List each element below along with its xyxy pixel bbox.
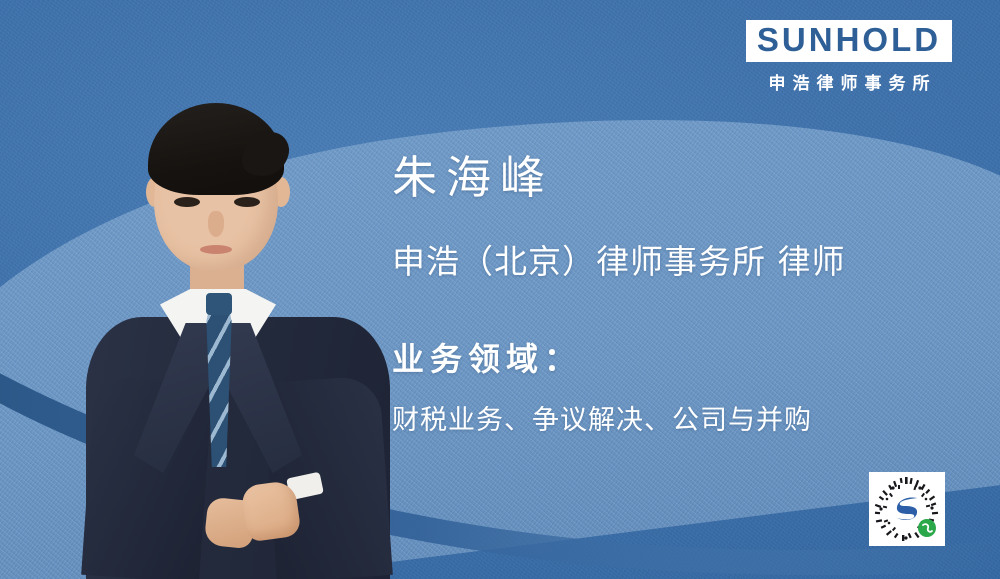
portrait-eye-left — [174, 197, 200, 207]
logo-wordmark-box: SUNHOLD — [746, 20, 952, 62]
miniprogram-badge-icon — [918, 519, 936, 537]
portrait-mouth — [200, 245, 232, 254]
practice-areas-value: 财税业务、争议解决、公司与并购 — [392, 403, 812, 439]
logo-chinese-name: 申浩律师事务所 — [746, 69, 952, 94]
practice-areas-label: 业务领域： — [392, 338, 582, 380]
portrait-necktie-knot — [206, 293, 232, 315]
brand-logo: SUNHOLD 申浩律师事务所 — [746, 20, 952, 94]
profile-card: SUNHOLD 申浩律师事务所 朱海峰 申浩（北京）律师事务所 律师 业务领域：… — [0, 0, 1000, 579]
lawyer-name: 朱海峰 — [392, 150, 554, 206]
portrait-hair — [148, 103, 284, 195]
logo-wordmark: SUNHOLD — [752, 23, 946, 57]
lawyer-role: 申浩（北京）律师事务所 律师 — [392, 240, 846, 284]
portrait-nose — [208, 211, 224, 237]
wechat-miniprogram-qr-code[interactable] — [869, 472, 945, 546]
qr-icon — [872, 475, 942, 543]
portrait-photo — [78, 79, 398, 579]
portrait-eye-right — [234, 197, 260, 207]
